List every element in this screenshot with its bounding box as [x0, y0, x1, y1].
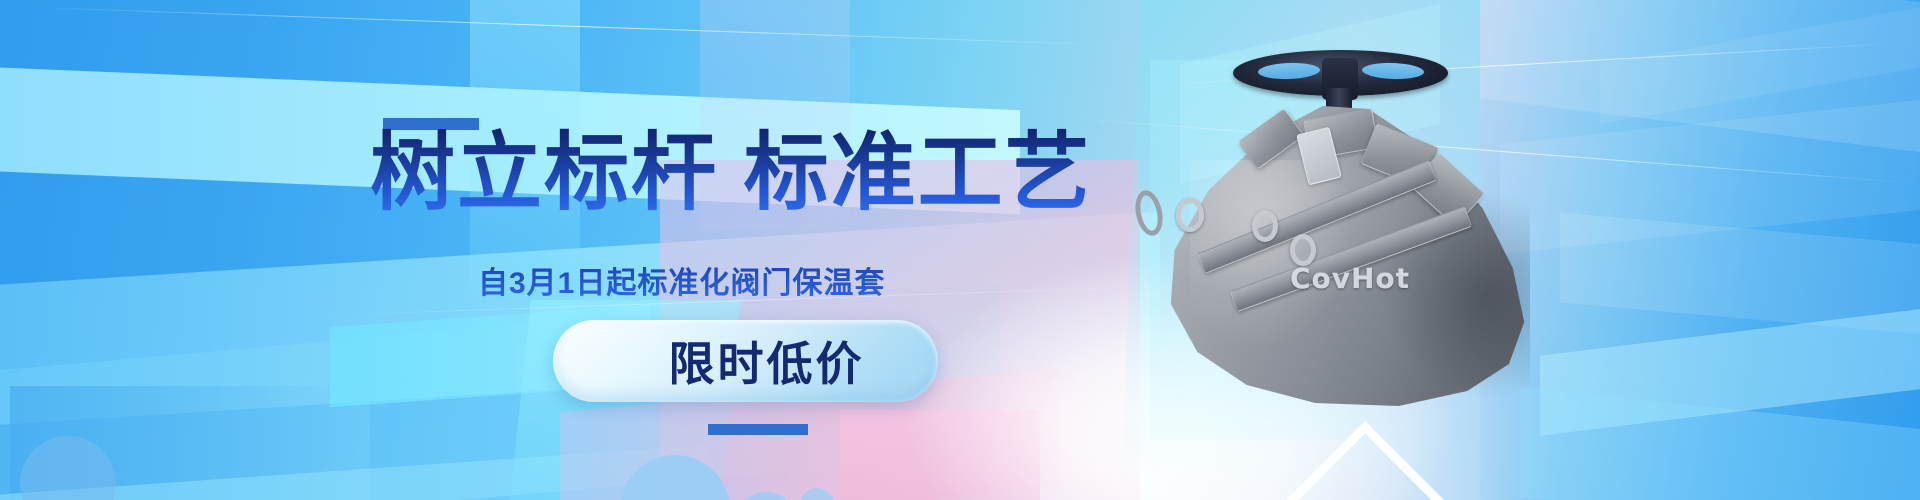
banner-text-block: 树立标杆 标准工艺 自3月1日起标准化阀门保温套 限时低价 [0, 0, 1150, 500]
cta-accent-bar [708, 424, 808, 435]
product-brand-label: CovHot [1250, 262, 1450, 295]
product-image-valve-insulation-jacket: CovHot [1130, 10, 1550, 430]
promo-banner: 树立标杆 标准工艺 自3月1日起标准化阀门保温套 限时低价 CovHot [0, 0, 1920, 500]
cta-pill-button[interactable]: 限时低价 [553, 320, 938, 402]
jacket-buckle-2 [1252, 210, 1278, 242]
jacket-buckle-1 [1176, 198, 1204, 232]
banner-headline: 树立标杆 标准工艺 [370, 128, 1090, 220]
banner-subheadline: 自3月1日起标准化阀门保温套 [478, 258, 885, 302]
jacket-hanging-loop [1132, 188, 1167, 238]
cta-pill-label: 限时低价 [627, 328, 865, 394]
